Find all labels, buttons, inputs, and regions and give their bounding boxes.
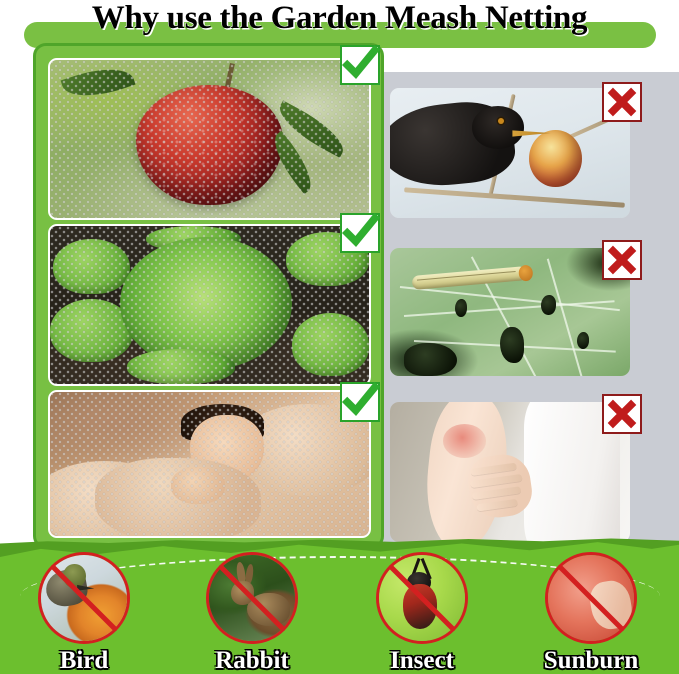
bird-eye [498,118,504,124]
finger [476,499,518,512]
cross-icon [602,240,642,280]
apple-fruit [529,130,582,187]
threat-label-rabbit: Rabbit [182,647,322,674]
mesh-netting-overlay [50,60,369,218]
photo-bird-eating-apple [390,88,630,218]
mesh-netting-overlay [50,392,369,536]
photo-sleeping-child-with-netting [48,390,371,538]
leaf-hole [500,327,524,363]
check-icon [340,382,380,422]
threat-label-insect: Insect [352,647,492,674]
finger [471,474,523,488]
mesh-netting-overlay [50,226,369,384]
photo-caterpillar-eating-leaf [390,248,630,376]
cross-icon [602,394,642,434]
infographic-page: Why use the Garden Meash Netting [0,0,679,674]
photo-skin-rash-arm [390,402,630,542]
bird-head [472,106,525,149]
photo-apple-with-netting [48,58,371,220]
photo-lettuce-with-netting [48,224,371,386]
threat-item-insect: Insect [376,552,468,644]
leaf-hole [404,343,457,376]
threat-item-rabbit: Rabbit [206,552,298,644]
skin-rash [443,424,486,458]
threat-label-bird: Bird [14,647,154,674]
page-title: Why use the Garden Meash Netting [0,0,679,37]
finger [470,463,517,476]
threat-item-sunburn: Sunburn [545,552,637,644]
check-icon [340,213,380,253]
check-icon [340,45,380,85]
leaf-hole [455,299,467,317]
threat-label-sunburn: Sunburn [521,647,661,674]
threat-item-bird: Bird [38,552,130,644]
solution-column-frame [33,43,384,549]
leaf-hole [541,295,555,314]
cross-icon [602,82,642,122]
